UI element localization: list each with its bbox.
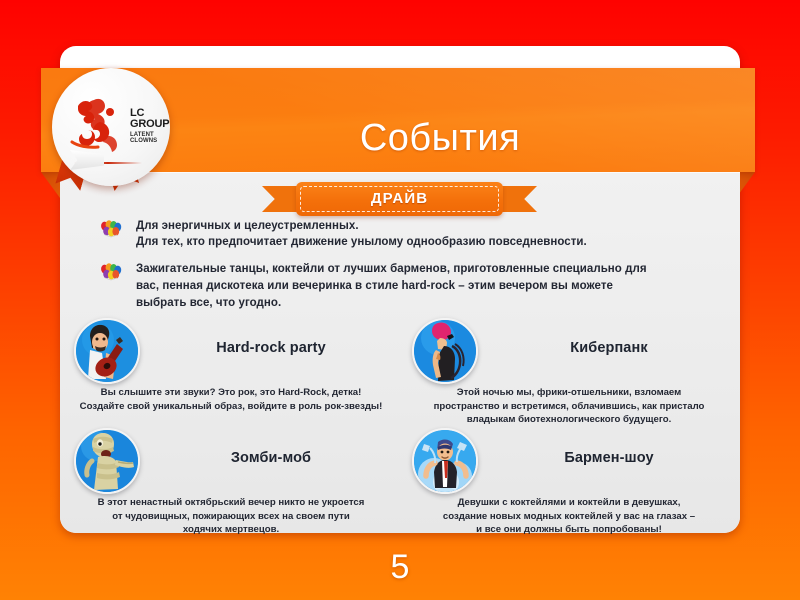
- logo-name: LC GROUP: [130, 108, 170, 130]
- event-description: В этот ненастный октябрьский вечер никто…: [66, 496, 396, 537]
- intro-paragraph-1-text: Для энергичных и целеустремленных. Для т…: [136, 218, 587, 250]
- event-description-line: В этот ненастный октябрьский вечер никто…: [66, 496, 396, 510]
- event-description: Вы слышите эти звуки? Это рок, это Hard-…: [66, 386, 396, 413]
- page-title: События: [230, 117, 650, 160]
- cyberpunk-girl-icon: [412, 318, 478, 384]
- balloons-icon: [100, 220, 122, 240]
- event-title: Бармен-шоу: [484, 450, 734, 466]
- rocker-guitarist-icon: [74, 318, 140, 384]
- ribbon-label: ДРАЙВ: [296, 182, 503, 216]
- event-title: Зомби-моб: [146, 450, 396, 466]
- balloons-icon: [100, 263, 122, 283]
- event-description-line: создание новых модных коктейлей у вас на…: [404, 510, 734, 524]
- intro-paragraph-2: Зажигательные танцы, коктейли от лучших …: [100, 261, 710, 312]
- event-description-line: Создайте свой уникальный образ, войдите …: [66, 400, 396, 414]
- logo-subtitle: LATENT CLOWNS: [130, 132, 170, 144]
- event-description-line: Этой ночью мы, фрики-отшельники, взломае…: [404, 386, 734, 400]
- intro-line: Зажигательные танцы, коктейли от лучших …: [136, 261, 647, 278]
- event-title: Hard-rock party: [146, 340, 396, 356]
- clown-mascot-icon: [66, 92, 128, 154]
- event-avatar: [412, 428, 478, 494]
- intro-line: вас, пенная дискотека или вечеринка в ст…: [136, 278, 647, 295]
- intro-line: выбрать все, что угодно.: [136, 295, 647, 312]
- intro-paragraph-1: Для энергичных и целеустремленных. Для т…: [100, 218, 710, 250]
- page-number: 5: [0, 548, 800, 587]
- event-avatar: [74, 428, 140, 494]
- section-ribbon: ДРАЙВ: [262, 182, 537, 216]
- event-title: Киберпанк: [484, 340, 734, 356]
- ribbon-body: ДРАЙВ: [296, 182, 503, 216]
- event-avatar: [412, 318, 478, 384]
- event-description: Этой ночью мы, фрики-отшельники, взломае…: [404, 386, 734, 427]
- logo-wordmark: LC GROUP LATENT CLOWNS: [130, 108, 170, 144]
- event-description-line: владыкам биотехнологического будущего.: [404, 413, 734, 427]
- event-description-line: Девушки с коктейлями и коктейли в девушк…: [404, 496, 734, 510]
- event-description-line: и все они должны быть попробованы!: [404, 523, 734, 537]
- event-avatar: [74, 318, 140, 384]
- intro-paragraph-2-text: Зажигательные танцы, коктейли от лучших …: [136, 261, 647, 312]
- bartender-icon: [412, 428, 478, 494]
- intro-line: Для тех, кто предпочитает движение уныло…: [136, 234, 587, 250]
- event-description-line: пространство и встретимся, облачившись, …: [404, 400, 734, 414]
- event-description: Девушки с коктейлями и коктейли в девушк…: [404, 496, 734, 537]
- intro-line: Для энергичных и целеустремленных.: [136, 218, 587, 234]
- event-description-line: ходячих мертвецов.: [66, 523, 396, 537]
- event-description-line: Вы слышите эти звуки? Это рок, это Hard-…: [66, 386, 396, 400]
- logo-badge: LC GROUP LATENT CLOWNS: [52, 68, 170, 186]
- header-fold-left: [41, 172, 60, 198]
- event-description-line: от чудовищных, пожирающих всех на своем …: [66, 510, 396, 524]
- mummy-zombie-icon: [74, 428, 140, 494]
